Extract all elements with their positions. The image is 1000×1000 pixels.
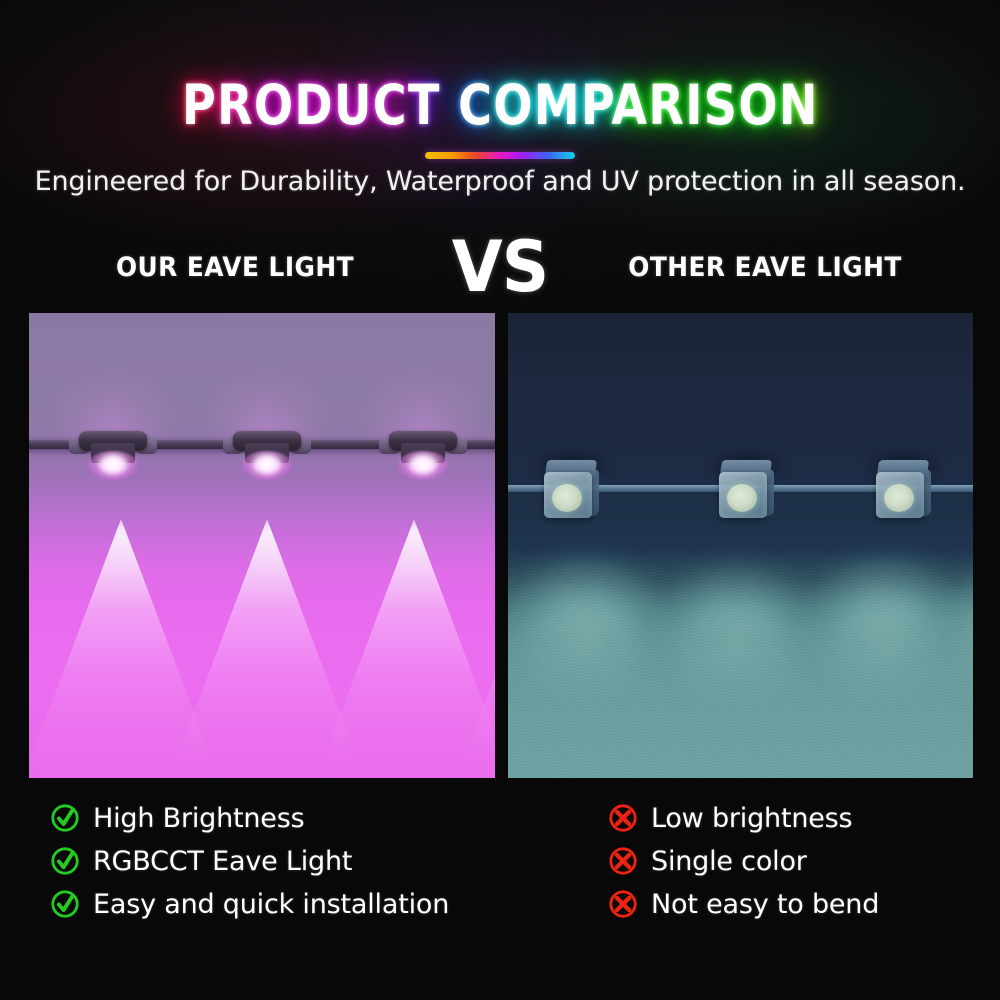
our-eave-light-photo: [29, 313, 495, 778]
square-eave-light-fixture: [874, 460, 932, 522]
list-item-label: Single color: [651, 846, 807, 877]
list-item-label: Not easy to bend: [651, 889, 879, 920]
list-item: Low brightness: [608, 800, 879, 836]
check-circle-icon: [50, 889, 80, 919]
x-circle-icon: [608, 803, 638, 833]
page-title: PRODUCT COMPARISON PRODUCT COMPARISON PR…: [182, 78, 819, 133]
product-comparison-infographic: PRODUCT COMPARISON PRODUCT COMPARISON PR…: [0, 0, 1000, 1000]
title-block: PRODUCT COMPARISON PRODUCT COMPARISON PR…: [0, 78, 1000, 133]
square-eave-light-fixture: [717, 460, 775, 522]
list-item-label: High Brightness: [93, 803, 304, 834]
other-eave-light-photo: [508, 313, 973, 778]
list-item: Easy and quick installation: [50, 886, 449, 922]
fixture-lens: [884, 484, 914, 512]
pros-list: High Brightness RGBCCT Eave Light Easy a…: [50, 800, 449, 922]
fixture-hotspot: [409, 456, 437, 475]
fixture-lens: [552, 484, 582, 512]
cons-list: Low brightness Single color Not easy to …: [608, 800, 879, 922]
wall-texture: [508, 568, 973, 778]
list-item: Single color: [608, 843, 879, 879]
list-item: Not easy to bend: [608, 886, 879, 922]
square-eave-light-fixture: [542, 460, 600, 522]
fixture-hotspot: [99, 456, 127, 475]
page-subtitle: Engineered for Durability, Waterproof an…: [0, 166, 1000, 197]
round-eave-light-fixture: [71, 423, 155, 485]
title-text: PRODUCT COMPARISON: [182, 73, 819, 137]
fixture-hotspot: [253, 456, 281, 475]
fixture-lens: [727, 484, 757, 512]
list-item-label: RGBCCT Eave Light: [93, 846, 352, 877]
list-item-label: Low brightness: [651, 803, 852, 834]
list-item-label: Easy and quick installation: [93, 889, 449, 920]
x-circle-icon: [608, 846, 638, 876]
list-item: High Brightness: [50, 800, 449, 836]
check-circle-icon: [50, 803, 80, 833]
round-eave-light-fixture: [225, 423, 309, 485]
check-circle-icon: [50, 846, 80, 876]
x-circle-icon: [608, 889, 638, 919]
right-column-header: OTHER EAVE LIGHT: [549, 252, 981, 283]
rainbow-divider: [425, 152, 575, 159]
round-eave-light-fixture: [381, 423, 465, 485]
list-item: RGBCCT Eave Light: [50, 843, 449, 879]
light-beam: [314, 519, 495, 778]
